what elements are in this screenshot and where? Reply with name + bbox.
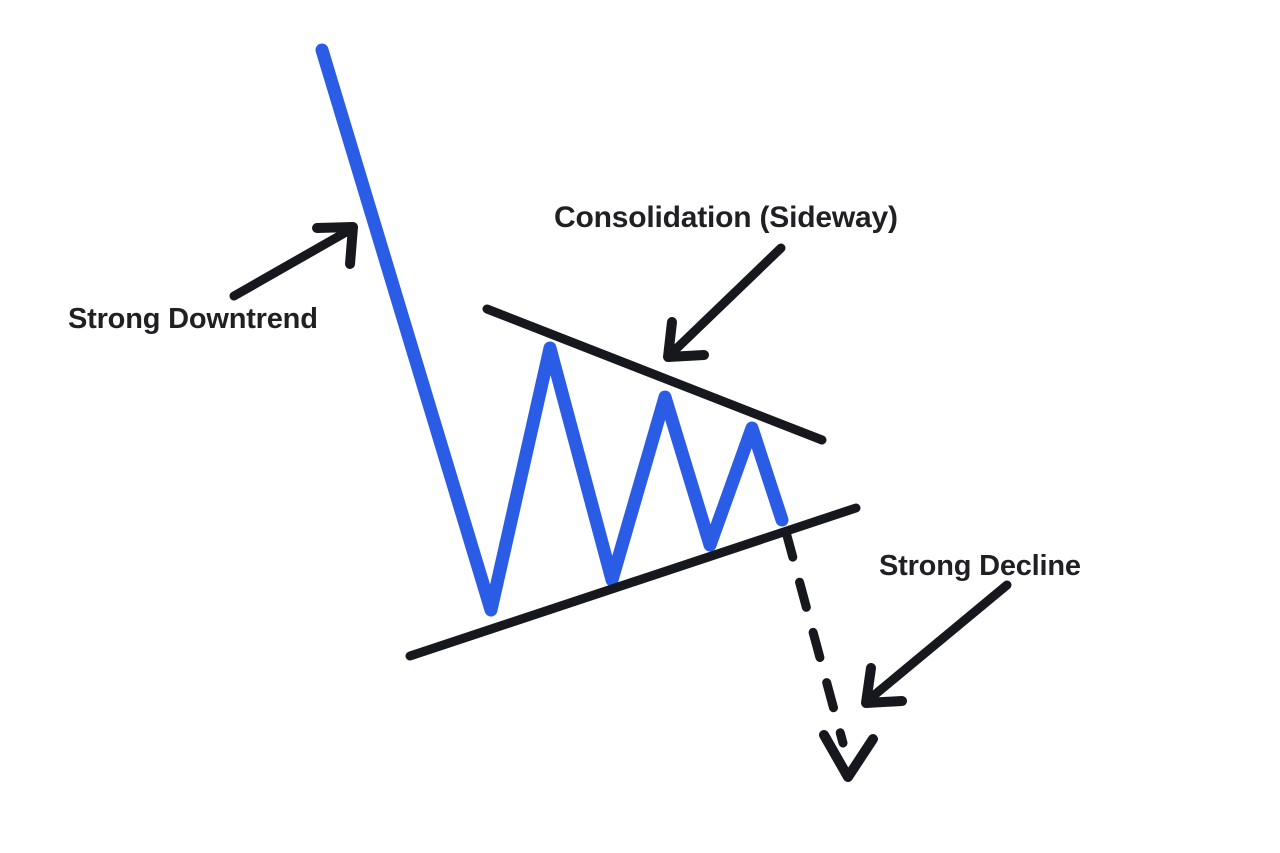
annotation-label-consolidation: Consolidation (Sideway) xyxy=(554,203,898,233)
chart-figure: Strong Downtrend Consolidation (Sideway)… xyxy=(0,0,1280,853)
annotation-label-strong-decline: Strong Decline xyxy=(879,552,1081,581)
pattern-diagram-svg xyxy=(0,0,1280,853)
consolidation-arrow-shaft xyxy=(674,248,781,351)
strong-decline-arrow-shaft xyxy=(872,585,1007,697)
breakdown-arrowhead-icon xyxy=(824,735,873,777)
annotation-label-strong-downtrend: Strong Downtrend xyxy=(68,305,318,334)
breakdown-projection-line xyxy=(786,532,843,743)
strong-downtrend-arrow-shaft xyxy=(234,231,348,296)
